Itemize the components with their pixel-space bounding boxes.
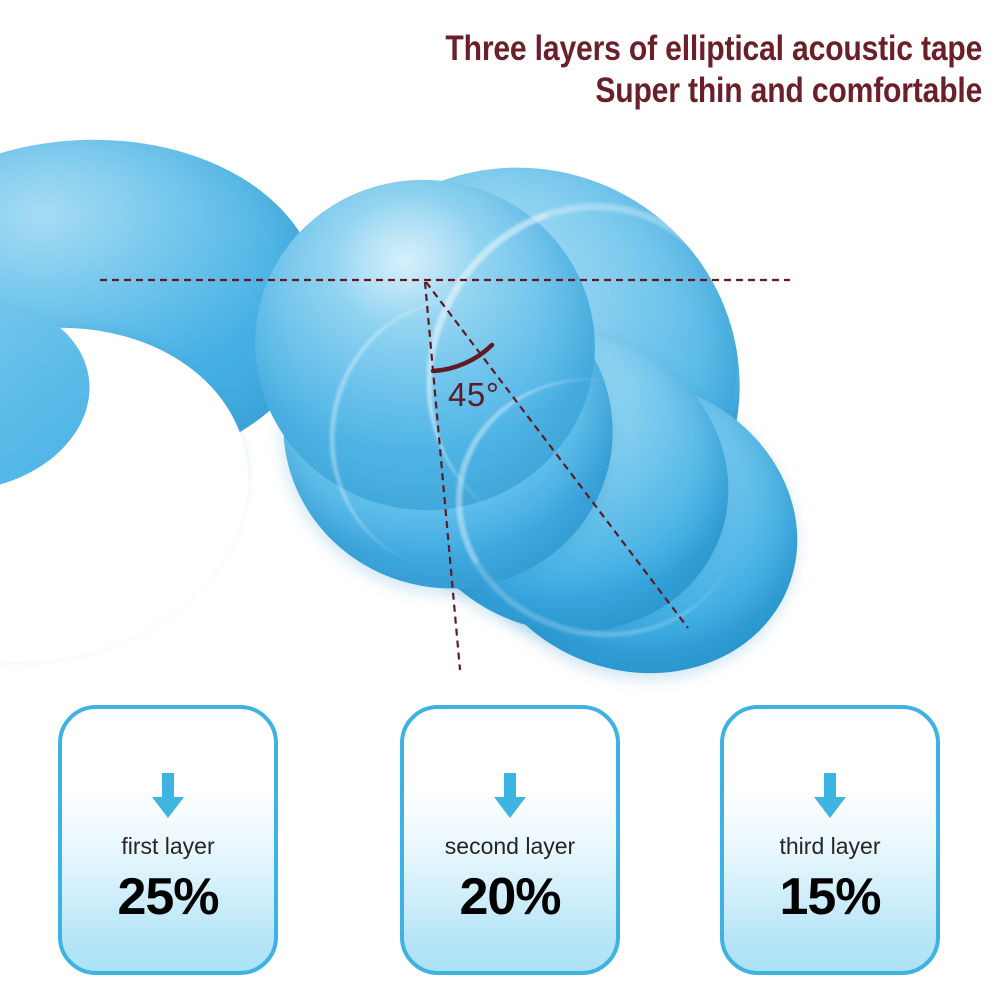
layer-card-label: third layer [780,833,881,859]
layer-card-second[interactable]: second layer 20% [400,705,620,975]
layer-card-label: first layer [121,833,214,859]
layer-card-percent: 20% [459,869,560,925]
layer-cards-row: first layer 25% second layer 20% third l… [0,700,1000,1000]
down-arrow-icon [151,773,185,819]
headline-line-1: Three layers of elliptical acoustic tape [445,28,982,70]
headline-line-2: Super thin and comfortable [445,70,982,112]
layer-card-first[interactable]: first layer 25% [58,705,278,975]
layer-card-third[interactable]: third layer 15% [720,705,940,975]
layer-card-percent: 15% [779,869,880,925]
product-marketing-image: 45° Three layers of elliptical acoustic … [0,0,1000,1000]
layer-card-label: second layer [445,833,575,859]
down-arrow-icon [813,773,847,819]
down-arrow-icon [493,773,527,819]
headline-block: Three layers of elliptical acoustic tape… [358,28,982,112]
layer-card-percent: 25% [117,869,218,925]
